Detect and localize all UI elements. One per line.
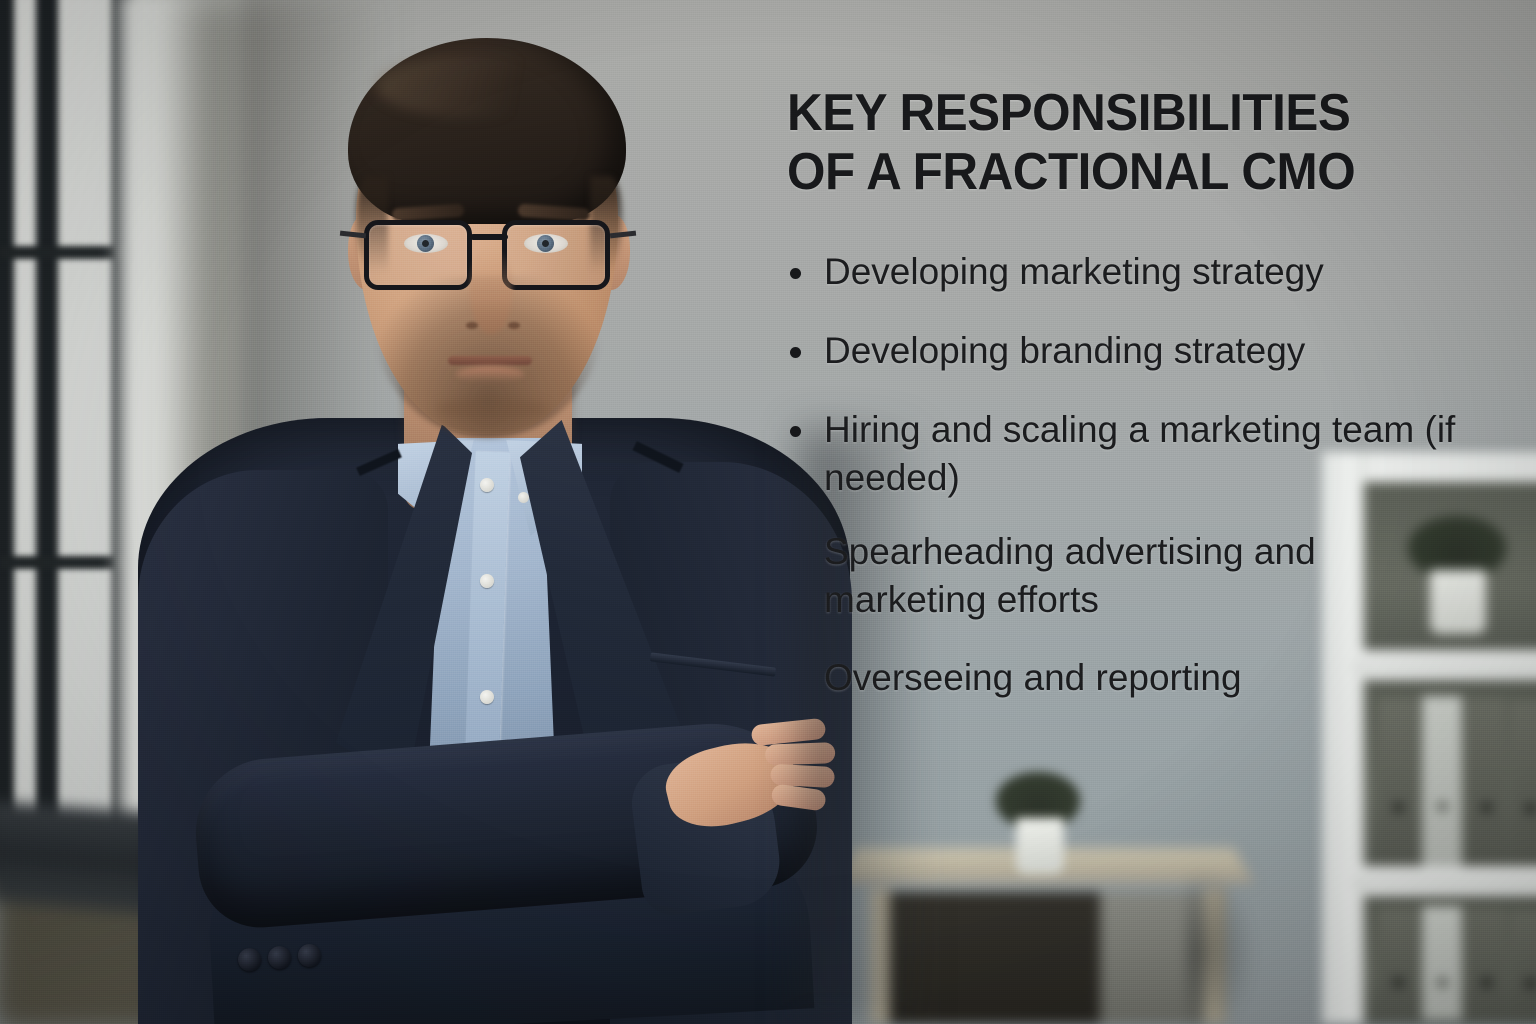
list-item: Spearheading advertising and marketing e… bbox=[787, 528, 1487, 624]
eyeglass-bridge bbox=[470, 234, 508, 240]
list-item: Developing branding strategy bbox=[787, 327, 1487, 375]
shirt-button bbox=[480, 574, 494, 588]
shirt-button bbox=[480, 478, 494, 492]
chin-shadow bbox=[436, 398, 548, 420]
list-item-label: Developing branding strategy bbox=[824, 330, 1305, 371]
eyeglass-lens-left bbox=[364, 220, 472, 290]
mouth bbox=[448, 356, 532, 365]
list-item-label: Developing marketing strategy bbox=[824, 251, 1324, 292]
bullet-dot-icon bbox=[790, 347, 801, 358]
nostril-left bbox=[466, 322, 478, 329]
lower-lip bbox=[456, 366, 524, 382]
bullet-dot-icon bbox=[790, 268, 801, 279]
responsibilities-list: Developing marketing strategy Developing… bbox=[787, 248, 1487, 703]
list-item-label: Overseeing and reporting bbox=[824, 657, 1242, 698]
hair bbox=[348, 38, 626, 224]
list-item: Overseeing and reporting bbox=[787, 654, 1487, 702]
list-item-label: Hiring and scaling a marketing team (if … bbox=[824, 409, 1455, 498]
shirt-button bbox=[480, 690, 494, 704]
eyeglass-lens-right bbox=[502, 220, 610, 290]
list-item: Developing marketing strategy bbox=[787, 248, 1487, 296]
text-overlay: KEY RESPONSIBILITIES OF A FRACTIONAL CMO… bbox=[787, 84, 1487, 702]
list-item: Hiring and scaling a marketing team (if … bbox=[787, 406, 1487, 502]
collar-button-right bbox=[518, 492, 529, 503]
page-title: KEY RESPONSIBILITIES OF A FRACTIONAL CMO bbox=[787, 84, 1452, 202]
bullet-dot-icon bbox=[790, 426, 801, 437]
image-canvas: KEY RESPONSIBILITIES OF A FRACTIONAL CMO… bbox=[0, 0, 1536, 1024]
nose bbox=[470, 248, 512, 334]
list-item-label: Spearheading advertising and marketing e… bbox=[824, 531, 1316, 620]
nostril-right bbox=[508, 322, 520, 329]
